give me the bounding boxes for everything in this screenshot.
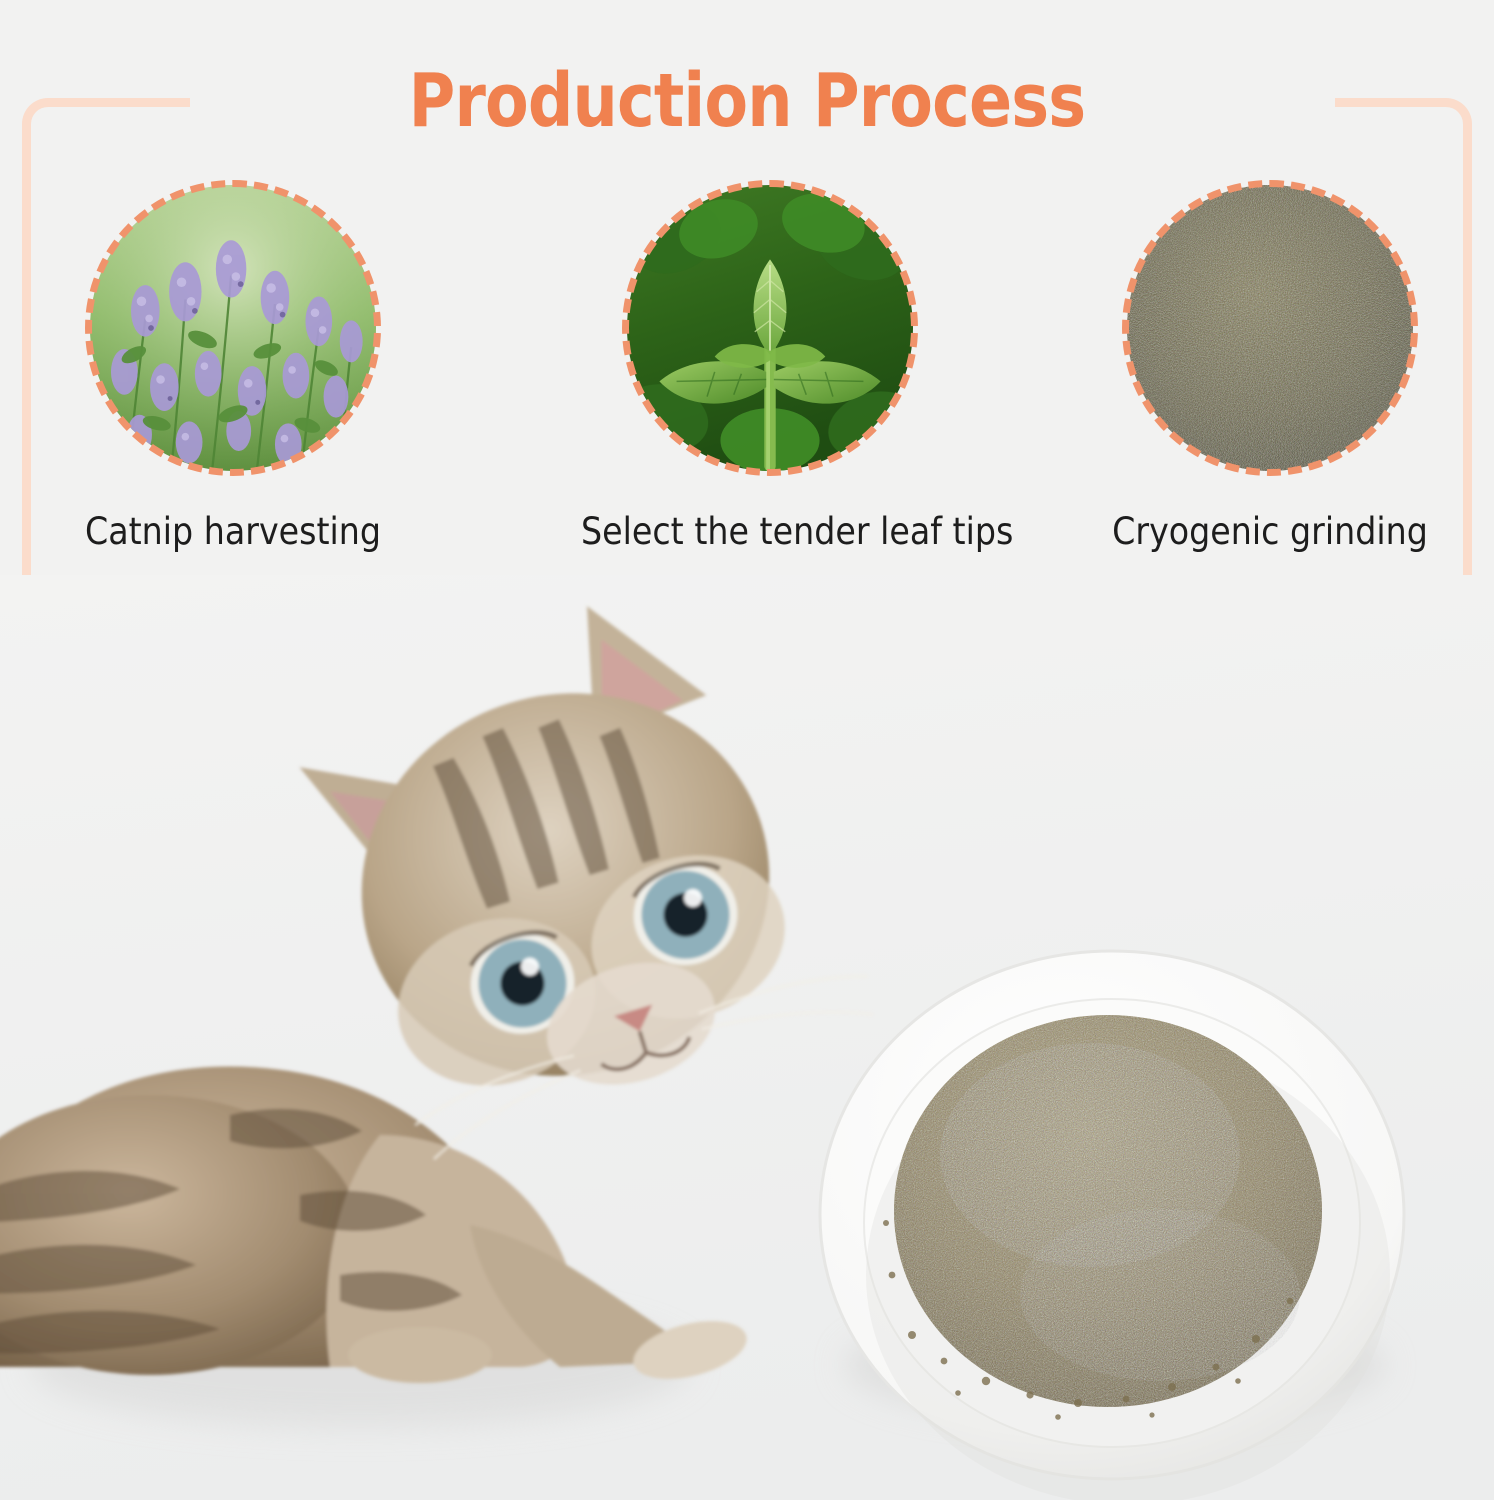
step-2-image-circle xyxy=(622,180,918,476)
process-steps-row: Catnip harvesting xyxy=(0,180,1494,560)
step-2-caption: Select the tender leaf tips xyxy=(581,510,959,553)
step-3-image-circle xyxy=(1122,180,1418,476)
step-3-caption: Cryogenic grinding xyxy=(1081,510,1459,553)
process-step-2: Select the tender leaf tips xyxy=(560,180,980,553)
step-1-dashed-ring xyxy=(85,180,381,476)
hero-photo-area xyxy=(0,575,1494,1500)
process-step-3: Cryogenic grinding xyxy=(1060,180,1480,553)
page-title: Production Process xyxy=(105,58,1390,144)
infographic-page: Production Process xyxy=(0,0,1494,1500)
step-1-caption: Catnip harvesting xyxy=(44,510,422,553)
step-3-dashed-ring xyxy=(1122,180,1418,476)
step-2-dashed-ring xyxy=(622,180,918,476)
process-step-1: Catnip harvesting xyxy=(23,180,443,553)
step-1-image-circle xyxy=(85,180,381,476)
